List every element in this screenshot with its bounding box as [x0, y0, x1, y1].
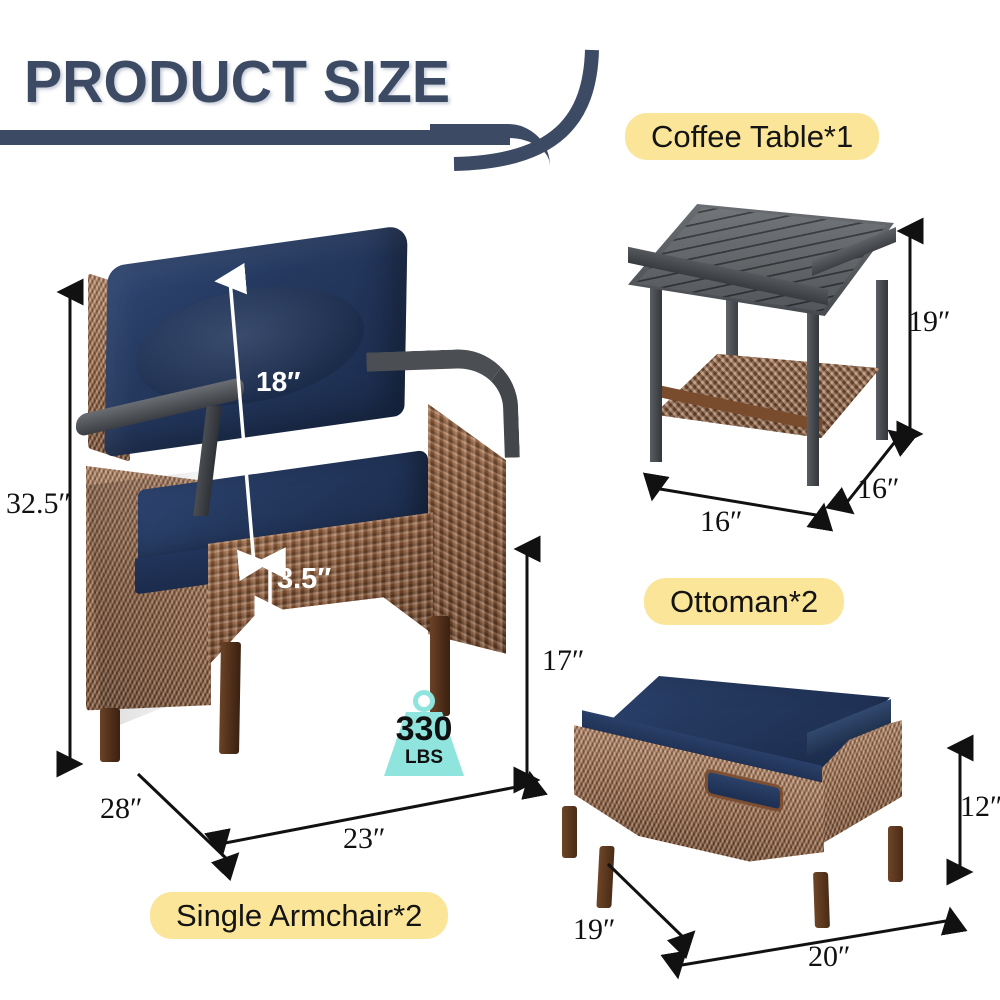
- ottoman-depth-label: 19″: [573, 913, 616, 947]
- ottoman-width-label: 20″: [808, 940, 851, 974]
- armchair-right-armrest: [366, 347, 520, 462]
- title-swoosh-icon: [440, 42, 610, 172]
- coffee-table-height-label: 19″: [908, 305, 951, 339]
- badge-ottoman: Ottoman*2: [644, 578, 844, 625]
- page-header: PRODUCT SIZE: [0, 34, 640, 184]
- ottoman-leg-back-right: [888, 826, 903, 882]
- armchair-back-cushion-arrow: [220, 272, 260, 572]
- coffee-table-leg-back-right: [876, 280, 888, 440]
- armchair-leg-front-left: [219, 642, 241, 754]
- ottoman-leg-back-left: [562, 806, 577, 858]
- badge-coffee-table: Coffee Table*1: [625, 113, 879, 160]
- coffee-table-depth-label: 16″: [857, 472, 900, 506]
- armchair-seat-height-label: 17″: [542, 644, 585, 678]
- armchair-illustration: 330 LBS: [78, 238, 548, 838]
- weight-capacity-value: 330: [376, 710, 472, 749]
- coffee-table-width-label: 16″: [700, 505, 743, 539]
- armchair-depth-label: 28″: [100, 792, 143, 826]
- armchair-seat-thickness-label: 3.5″: [277, 563, 331, 596]
- ottoman-height-label: 12″: [960, 790, 1000, 824]
- weight-capacity-badge: 330 LBS: [376, 690, 472, 782]
- page-title: PRODUCT SIZE: [24, 48, 450, 116]
- armchair-height-arrow: [56, 282, 86, 774]
- armchair-width-label: 23″: [343, 822, 386, 856]
- armchair-seat-height-arrow: [513, 540, 543, 790]
- badge-single-armchair: Single Armchair*2: [150, 892, 448, 939]
- armchair-leg-back-left: [100, 708, 120, 762]
- weight-capacity-unit: LBS: [376, 747, 472, 769]
- armchair-back-cushion-height-label: 18″: [256, 366, 301, 398]
- coffee-table-leg-front-left: [650, 278, 662, 462]
- coffee-table-leg-front-right: [807, 308, 819, 486]
- armchair-height-label: 32.5″: [6, 487, 71, 521]
